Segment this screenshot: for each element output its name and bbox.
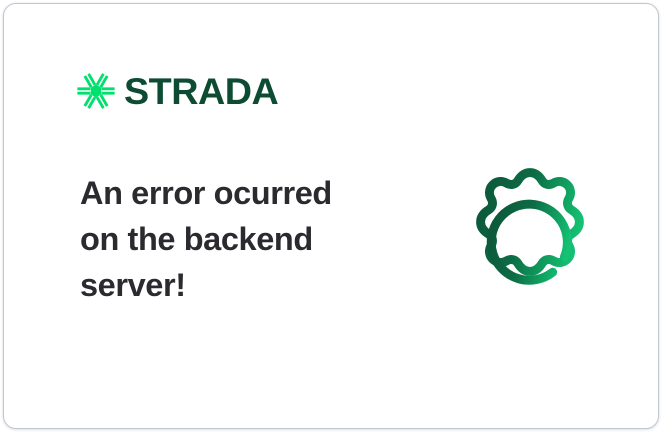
gear-icon	[449, 141, 611, 303]
brand-lockup: STRADA	[77, 72, 275, 110]
error-message-text: An error ocurred on the backend server!	[80, 170, 370, 308]
error-card: STRADA An error ocurred on the backend s…	[3, 3, 659, 429]
brand-wordmark: STRADA	[124, 73, 278, 110]
strada-asterisk-icon	[77, 72, 115, 110]
